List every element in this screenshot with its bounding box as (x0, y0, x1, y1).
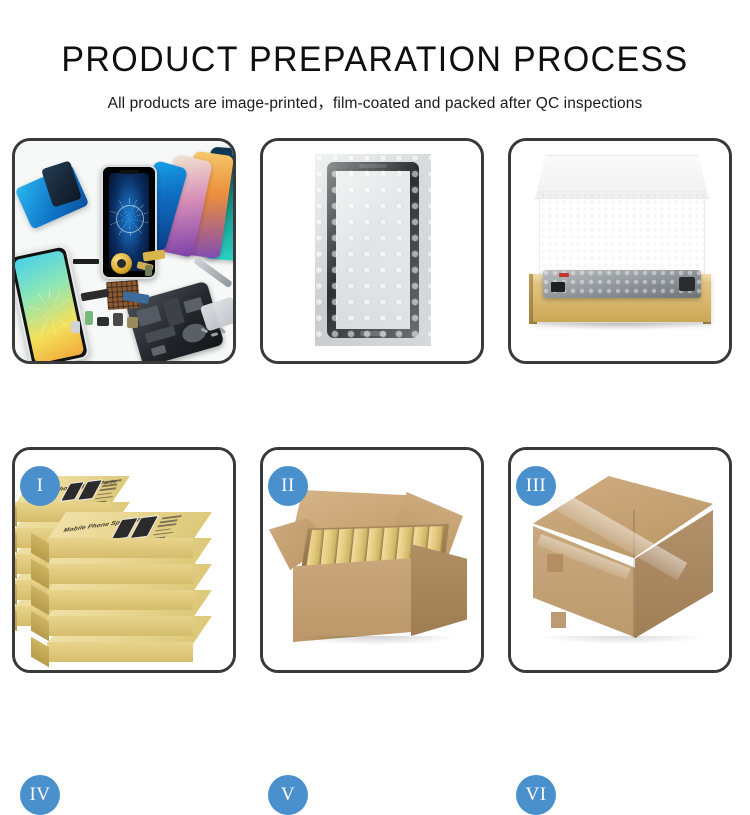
battery-connector-icon (73, 259, 99, 264)
step-panel-2 (260, 138, 484, 364)
blue-adhesive-screen-icon (15, 164, 89, 229)
vibrator-icon (97, 317, 109, 326)
step-image-2 (263, 141, 481, 361)
page-subtitle: All products are image-printed，film-coat… (0, 91, 750, 113)
bubble-wrap-scene (263, 141, 481, 361)
product-preparation-infographic: PRODUCT PREPARATION PROCESS All products… (0, 0, 750, 750)
carton-shadow (539, 636, 707, 644)
antenna-cable-icon (81, 289, 110, 302)
open-box-with-foam-scene (511, 141, 729, 361)
step-badge-3: III (516, 466, 556, 506)
carton-edge (633, 510, 635, 638)
step-badge-1: I (20, 466, 60, 506)
wrapped-screen-photo (315, 154, 431, 346)
phones-and-parts-scene (15, 141, 233, 361)
buzzer-icon (127, 317, 138, 328)
step-image-1 (15, 141, 233, 361)
carton-side-face (411, 544, 467, 636)
carton-front-face (293, 558, 413, 642)
carton-tab-lower (551, 612, 566, 628)
box-shadow (537, 323, 707, 331)
wrapped-screen-in-box-icon (543, 270, 701, 298)
step-image-3 (511, 141, 729, 361)
sim-tray-icon (113, 313, 123, 326)
step-badge-5: V (268, 775, 308, 815)
battery-cell-icon (85, 311, 93, 325)
plastic-sheen (315, 154, 431, 346)
flex-cable-icon (142, 250, 165, 262)
step-panel-1 (12, 138, 236, 364)
screws-icon (201, 329, 227, 339)
header: PRODUCT PREPARATION PROCESS All products… (0, 0, 750, 113)
carton-tab-upper (547, 554, 563, 572)
foam-sheet-icon (539, 191, 705, 279)
step-badge-4: IV (20, 775, 60, 815)
steps-grid: Mobile Phone Spare Parts (12, 138, 738, 673)
step-badge-6: VI (516, 775, 556, 815)
button-icon (145, 265, 152, 276)
step-badge-2: II (268, 466, 308, 506)
step-panel-3 (508, 138, 732, 364)
speaker-module-icon (111, 253, 132, 274)
page-title: PRODUCT PREPARATION PROCESS (11, 42, 739, 77)
sensor-icon (71, 321, 80, 333)
carton-shadow (297, 636, 457, 645)
